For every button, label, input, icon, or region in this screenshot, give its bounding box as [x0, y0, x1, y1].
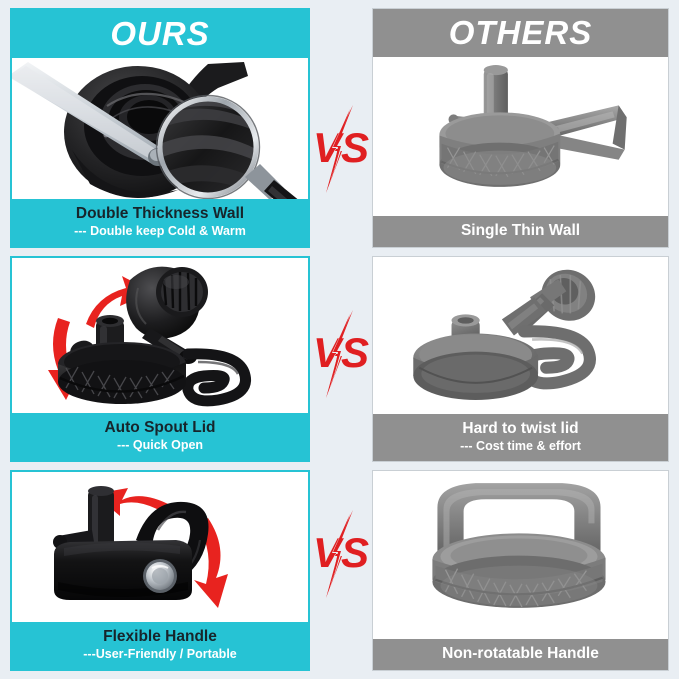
others-panel-2: Hard to twist lid --- Cost time & effort [372, 256, 669, 462]
others-image-2 [373, 257, 668, 414]
others-title-2: Hard to twist lid [377, 419, 664, 438]
ours-column-row-3: Flexible Handle ---User-Friendly / Porta… [10, 470, 310, 671]
comparison-infographic: OURS [0, 0, 679, 679]
ours-subtitle-1: --- Double keep Cold & Warm [16, 224, 304, 239]
ours-column-row-1: OURS [10, 8, 310, 248]
others-image-3 [373, 471, 668, 639]
others-column-row-1: OTHERS [372, 8, 669, 248]
ours-title-1: Double Thickness Wall [16, 204, 304, 223]
ours-title-3: Flexible Handle [16, 627, 304, 646]
ours-image-2 [12, 258, 308, 413]
others-caption-2: Hard to twist lid --- Cost time & effort [373, 414, 668, 461]
ours-image-1 [12, 58, 308, 199]
others-column-row-3: Non-rotatable Handle [372, 470, 669, 671]
others-panel-1: OTHERS [372, 8, 669, 248]
ours-subtitle-2: --- Quick Open [16, 438, 304, 453]
others-image-1 [373, 57, 668, 216]
ours-panel-1: OURS [10, 8, 310, 248]
comparison-row-1: OURS [0, 8, 679, 248]
others-title-3: Non-rotatable Handle [377, 644, 664, 663]
ours-panel-2: Auto Spout Lid --- Quick Open [10, 256, 310, 462]
ours-caption-3: Flexible Handle ---User-Friendly / Porta… [12, 622, 308, 669]
double-wall-bottle-illustration [12, 58, 308, 199]
ours-header-label: OURS [12, 10, 308, 58]
others-subtitle-2: --- Cost time & effort [377, 439, 664, 454]
auto-spout-lid-illustration [12, 258, 308, 413]
ours-caption-1: Double Thickness Wall --- Double keep Co… [12, 199, 308, 246]
others-header-label: OTHERS [373, 9, 668, 57]
non-rotatable-handle-illustration [373, 471, 668, 620]
others-caption-1: Single Thin Wall [373, 216, 668, 247]
ours-subtitle-3: ---User-Friendly / Portable [16, 647, 304, 662]
comparison-row-3: Flexible Handle ---User-Friendly / Porta… [0, 470, 679, 671]
others-column-row-2: Hard to twist lid --- Cost time & effort [372, 256, 669, 462]
single-thin-wall-lid-illustration [373, 57, 668, 210]
others-panel-3: Non-rotatable Handle [372, 470, 669, 671]
flexible-handle-illustration [12, 472, 308, 620]
ours-title-2: Auto Spout Lid [16, 418, 304, 437]
ours-image-3 [12, 472, 308, 622]
ours-caption-2: Auto Spout Lid --- Quick Open [12, 413, 308, 460]
ours-column-row-2: Auto Spout Lid --- Quick Open [10, 256, 310, 462]
comparison-row-2: Auto Spout Lid --- Quick Open [0, 256, 679, 462]
hard-twist-lid-illustration [373, 257, 668, 414]
ours-panel-3: Flexible Handle ---User-Friendly / Porta… [10, 470, 310, 671]
others-caption-3: Non-rotatable Handle [373, 639, 668, 670]
others-title-1: Single Thin Wall [377, 221, 664, 240]
